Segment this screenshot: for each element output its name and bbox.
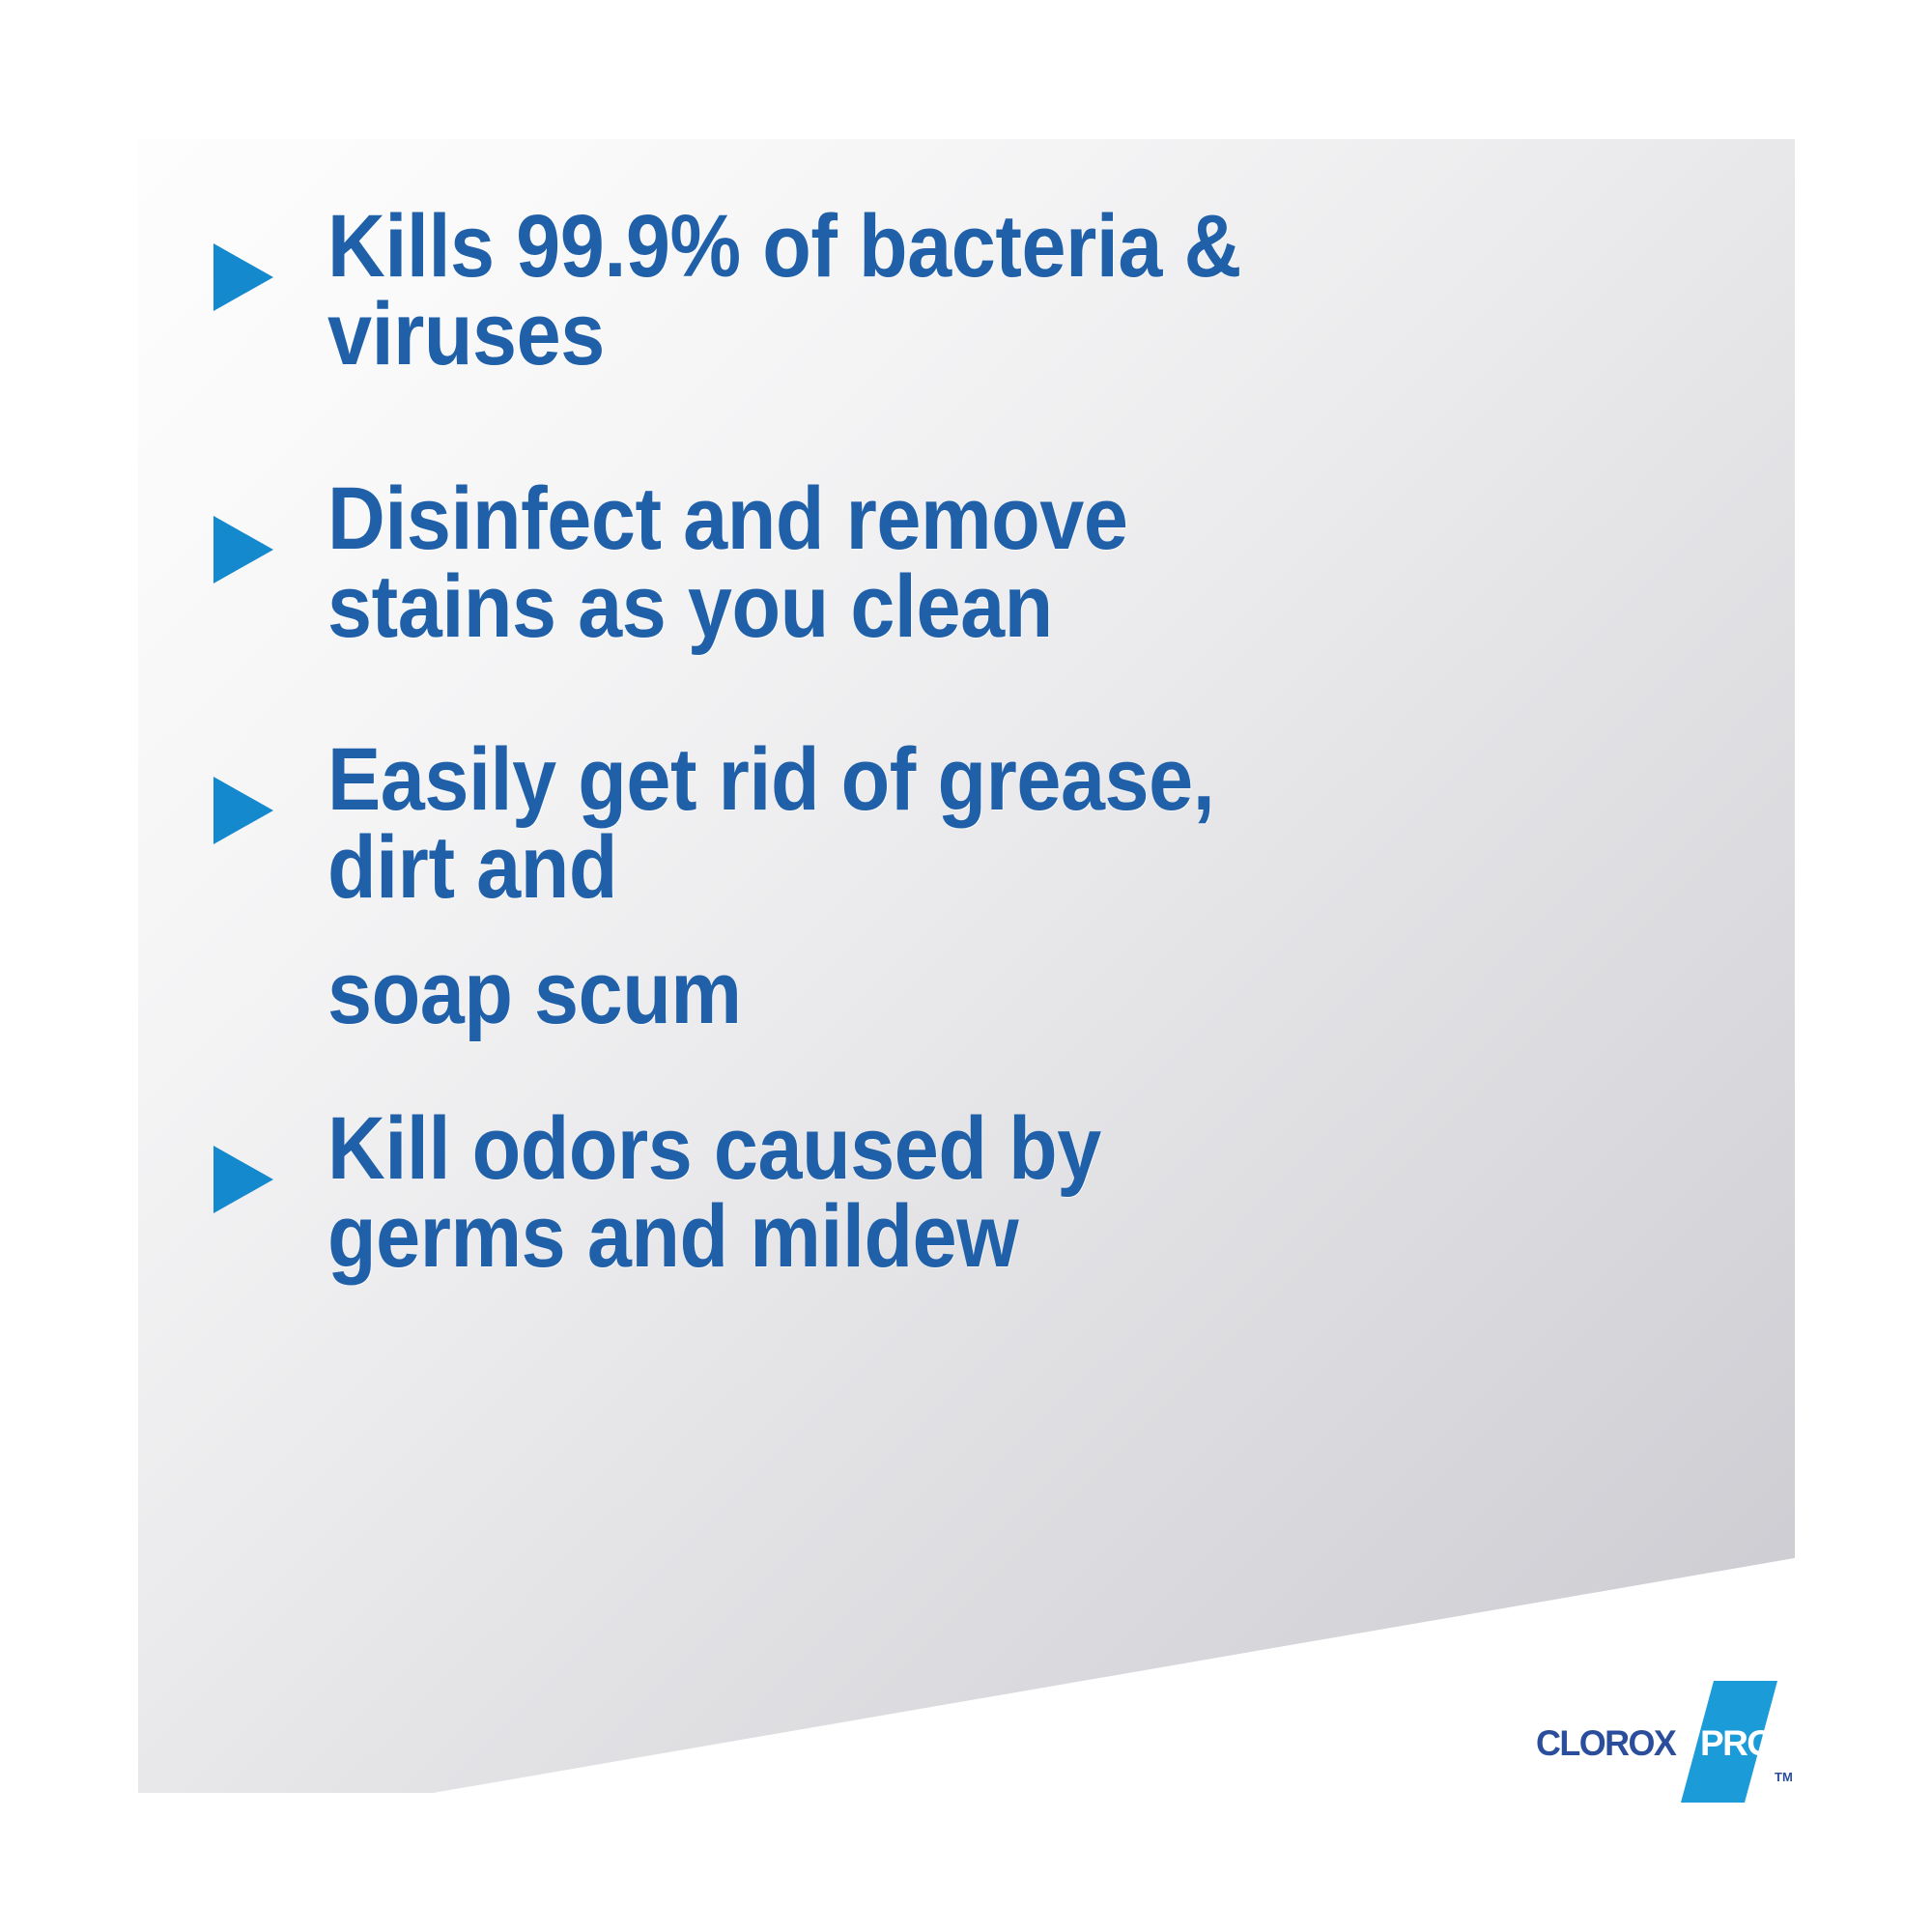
list-item-label: Kill odors caused by germs and mildew — [327, 1105, 1101, 1281]
trademark-symbol: TM — [1775, 1770, 1793, 1784]
list-item-label: Disinfect and remove stains as you clean — [327, 475, 1127, 651]
logo-suffix-text: PRO — [1700, 1723, 1773, 1764]
logo-brand-text: CLOROX — [1536, 1723, 1675, 1764]
triangle-right-icon — [213, 1146, 273, 1213]
list-item-label: Kills 99.9% of bacteria & viruses — [327, 203, 1241, 379]
product-benefits-graphic: Kills 99.9% of bacteria & viruses Disinf… — [0, 0, 1932, 1932]
list-item: Kills 99.9% of bacteria & viruses — [213, 203, 1343, 379]
list-item: Kill odors caused by germs and mildew — [213, 1105, 1187, 1281]
benefits-list: Kills 99.9% of bacteria & viruses Disinf… — [138, 139, 1795, 1793]
list-item: Disinfect and remove stains as you clean — [213, 475, 1217, 651]
list-item-label-continued: soap scum — [327, 944, 742, 1042]
triangle-right-icon — [213, 243, 273, 311]
list-item-label-group: Easily get rid of grease, dirt andsoap s… — [327, 736, 1214, 1037]
cloroxpro-logo: CLOROX PRO TM — [1536, 1681, 1826, 1811]
list-item-label: Easily get rid of grease, dirt and — [327, 730, 1214, 917]
triangle-right-icon — [213, 777, 273, 844]
list-item: Easily get rid of grease, dirt andsoap s… — [213, 736, 1313, 1037]
triangle-right-icon — [213, 516, 273, 583]
